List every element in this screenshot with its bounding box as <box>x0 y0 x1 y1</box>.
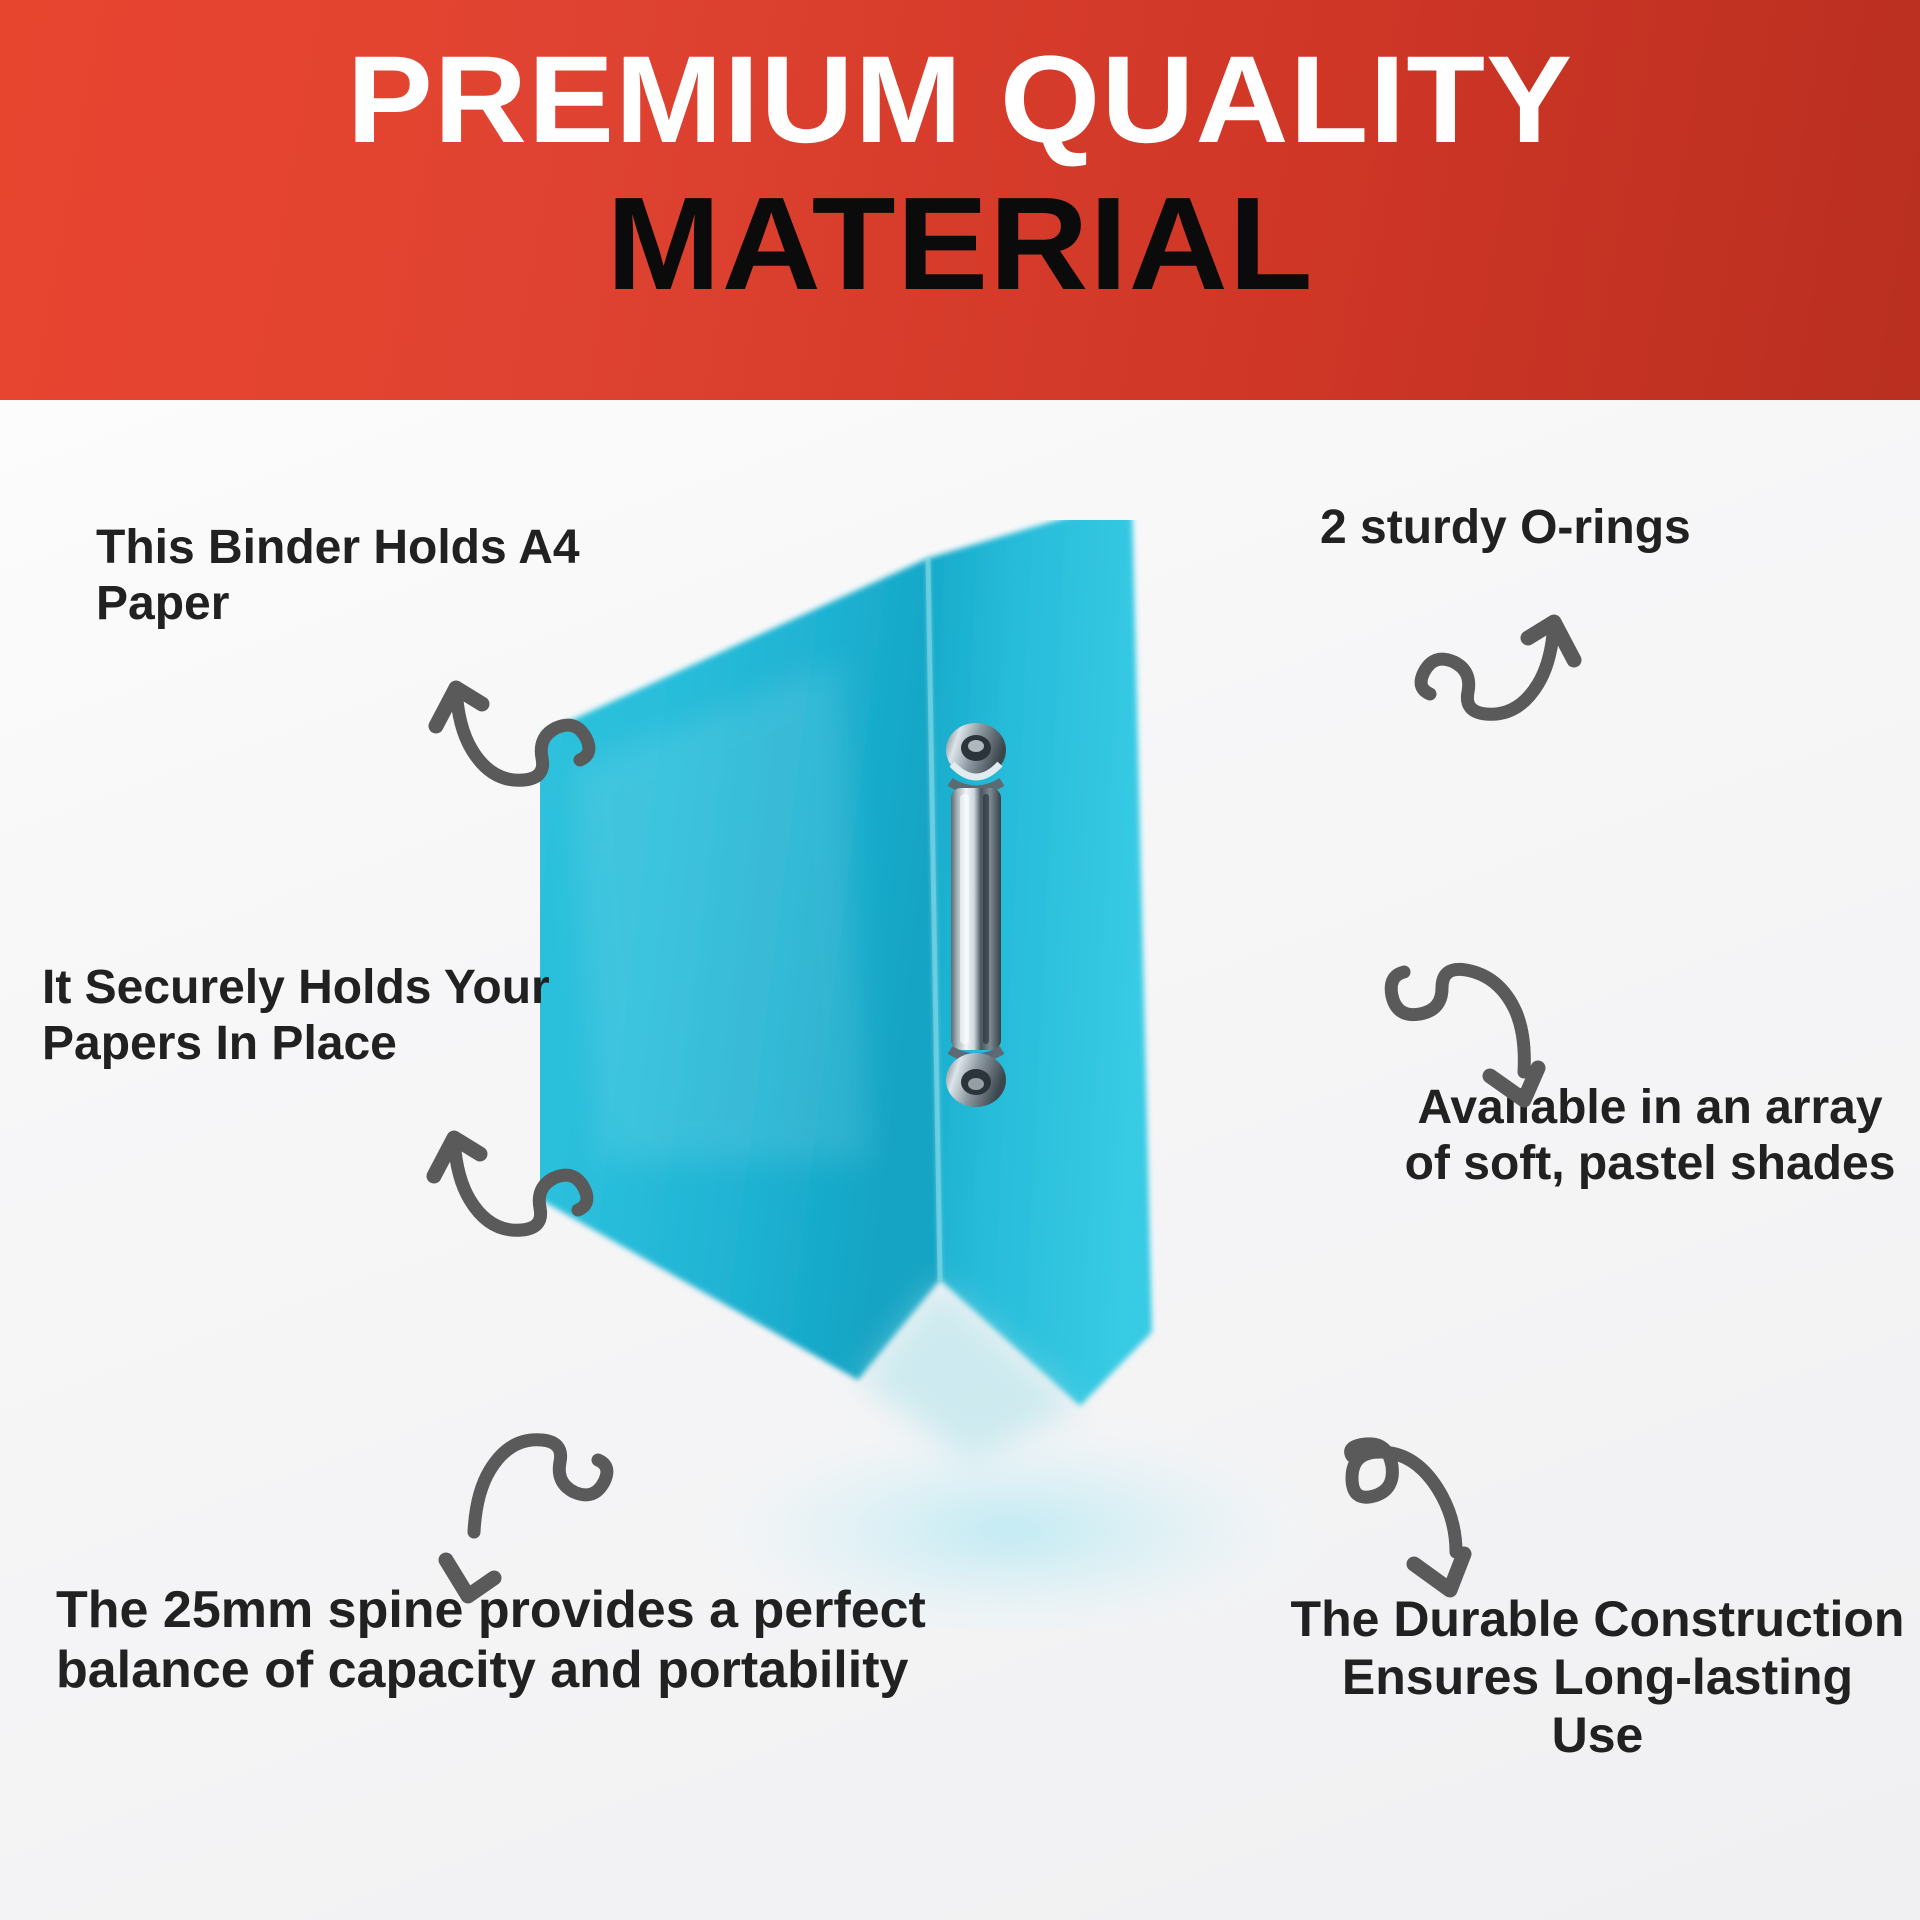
curly-arrow-down-right-icon <box>1338 1430 1528 1605</box>
curly-arrow-down-left-icon <box>440 1432 625 1607</box>
curly-arrow-down-right-icon <box>1378 948 1568 1123</box>
callout-securely-holds-papers: It Securely Holds Your Papers In Place <box>42 960 632 1071</box>
infographic-page: PREMIUM QUALITY MATERIAL <box>0 0 1920 1920</box>
mechanism-spine-bar <box>951 788 1001 1050</box>
banner-title-line2: MATERIAL <box>0 178 1920 310</box>
curly-arrow-up-right-icon <box>1400 566 1580 736</box>
header-banner: PREMIUM QUALITY MATERIAL <box>0 0 1920 400</box>
curly-arrow-up-left-icon <box>430 632 610 802</box>
curly-arrow-up-left-icon <box>428 1082 608 1252</box>
banner-title-line1: PREMIUM QUALITY <box>0 38 1920 162</box>
callout-durable-construction: The Durable Construction Ensures Long-la… <box>1290 1590 1905 1764</box>
callout-holds-a4-paper: This Binder Holds A4 Paper <box>96 520 696 631</box>
callout-sturdy-o-rings: 2 sturdy O-rings <box>1320 500 1900 556</box>
o-ring-top <box>946 723 1006 790</box>
product-image-ring-binder <box>540 520 1420 1630</box>
